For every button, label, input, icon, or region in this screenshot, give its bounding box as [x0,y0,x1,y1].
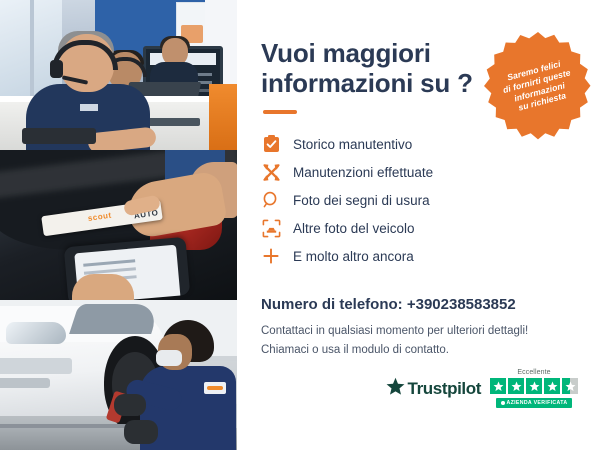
badge-text: Saremo felici di fornirti queste informa… [489,54,587,118]
rating-label: Eccellente [517,369,550,376]
crossed-wrenches-icon [261,162,281,182]
promo-card: AUTOscout [0,0,600,450]
list-item: Foto dei segni di usura [261,186,580,214]
feature-label: Manutenzioni effettuate [293,165,433,180]
lower-hand [72,274,134,300]
mechanic-wheel-photo [0,300,237,450]
clipboard-check-icon [261,134,281,154]
list-item: Altre foto del veicolo [261,214,580,242]
trustpilot-name: Trustpilot [408,379,481,399]
verified-check-icon [501,401,505,405]
tablet-inspection-photo: AUTOscout [0,150,237,300]
mechanic-figure [140,320,236,450]
phone-line: Numero di telefono: +390238583852 [261,296,580,313]
trustpilot-logo: Trustpilot [386,377,481,401]
orange-panel [209,84,237,150]
search-icon [261,190,281,210]
plus-icon [261,246,281,266]
desk-tablet [22,128,96,144]
title-underline [263,110,297,114]
headlight [6,322,66,344]
call-center-agents-photo [0,0,237,150]
content-panel: Vuoi maggiori informazioni su ? Storico … [237,0,600,450]
contact-subtext: Contattaci in qualsiasi momento per ulte… [261,322,580,360]
page-title: Vuoi maggiori informazioni su ? [261,38,476,98]
star-filled [490,378,506,394]
subtext-line-1: Contattaci in qualsiasi momento per ulte… [261,325,528,337]
feature-list: Storico manutentivo Manutenzioni effettu… [261,130,580,270]
verified-label: AZIENDA VERIFICATA [507,400,568,406]
subtext-line-2: Chiamaci o usa il modulo di contatto. [261,344,449,356]
star-rating [490,378,578,394]
status-badge: AZIENDA VERIFICATA [496,398,573,408]
list-item: E molto altro ancora [261,242,580,270]
callout-badge: Saremo felici di fornirti queste informa… [482,30,594,142]
photo-column: AUTOscout [0,0,237,450]
star-filled [544,378,560,394]
headline-line-1: Vuoi maggiori [261,38,431,68]
lower-grille [0,378,50,388]
feature-label: Foto dei segni di usura [293,193,430,208]
sticker-suffix: scout [87,211,112,223]
star-filled [526,378,542,394]
feature-label: Altre foto del veicolo [293,221,415,236]
phone-number[interactable]: +390238583852 [407,296,516,313]
car-scan-icon [261,218,281,238]
list-item: Manutenzioni effettuate [261,158,580,186]
star-half [562,378,578,394]
trustpilot-score-block: Eccellente [490,369,578,408]
star-filled [508,378,524,394]
feature-label: Storico manutentivo [293,137,412,152]
front-grille [0,358,72,374]
trustpilot-star-icon [386,377,405,401]
feature-label: E molto altro ancora [293,249,414,264]
uniform-logo [204,382,226,394]
trustpilot-rating[interactable]: Trustpilot Eccellente [386,369,578,408]
headline-line-2: informazioni su ? [261,68,473,98]
phone-label: Numero di telefono: [261,296,403,313]
